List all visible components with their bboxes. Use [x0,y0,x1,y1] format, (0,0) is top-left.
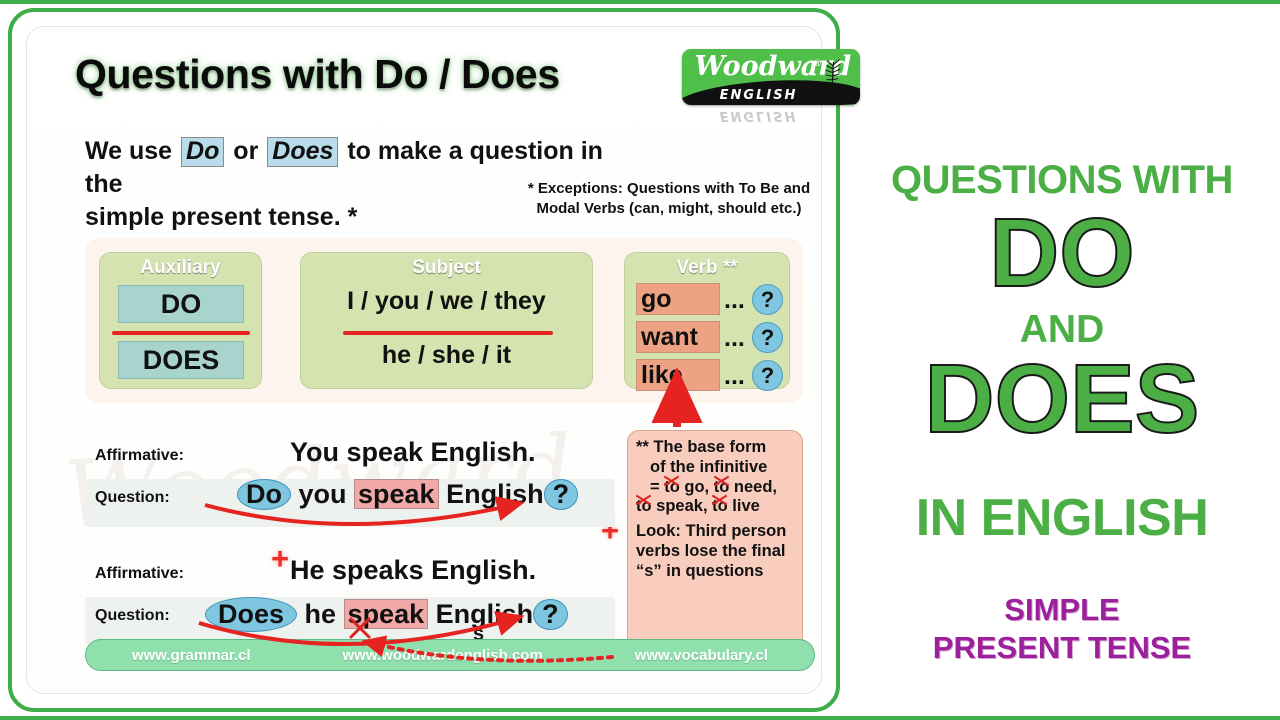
logo-reflection-text: ENGLISH [682,108,835,123]
verb-highlight: speak [354,479,439,509]
question-mark-badge: ? [752,284,783,315]
subject-header: Subject [301,257,592,279]
note-line-3: = to go, to need, [636,478,794,498]
note-line-1: ** The base form [636,438,794,458]
question-mark-badge: ? [752,360,783,391]
auxiliary-does-cell: DOES [118,341,244,379]
note-line-5: Look: Third person [636,522,794,542]
question-mark-chip: ? [533,599,568,630]
auxiliary-divider [112,331,250,335]
woodward-english-logo-small: Woodward ® ENGLISH [682,49,860,131]
affirmative-sentence: He speaks English. [290,555,536,586]
highlight-does: Does [267,137,338,167]
question-label: Question: [95,489,170,507]
top-green-rule [0,0,1280,4]
summary-line-questions-with: QUESTIONS WITH [848,158,1276,203]
summary-line-present-tense: PRESENT TENSE [848,630,1276,666]
auxiliary-box: Auxiliary DO DOES [99,252,262,389]
left-inner-frame: Woodward Woodward Questions with Do / Do… [26,26,822,694]
infographic-canvas: Woodward Woodward Questions with Do / Do… [0,0,1280,720]
auxiliary-do-cell: DO [118,285,244,323]
intro-part-2: or [226,137,265,165]
footer-link-grammar[interactable]: www.grammar.cl [132,647,251,664]
summary-line-in-english: IN ENGLISH [848,488,1276,548]
subject-box: Subject I / you / we / they he / she / i… [300,252,593,389]
summary-line-simple: SIMPLE [848,592,1276,628]
exceptions-line-2: Modal Verbs (can, might, should etc.) [495,199,843,219]
question-mark-chip: ? [544,479,579,510]
right-summary-panel: Woodward ® ENGLISH ENGLISH [848,8,1276,712]
summary-word-does: DOES [848,350,1276,447]
question-object: English [439,479,544,509]
footer-links-bar: www.grammar.cl www.woodwardenglish.com w… [85,639,815,671]
logo-badge: Woodward ® ENGLISH [682,49,860,105]
base-form-note-box: ** The base form of the infinitive = to … [627,430,803,657]
verb-word: like [636,359,720,391]
highlight-do: Do [181,137,224,167]
logo-reflection: ENGLISH [682,106,860,131]
question-label: Question: [95,607,170,625]
verb-highlight: speak [344,599,429,629]
note-speak: speak, [652,497,713,515]
question-subject: he [297,599,344,629]
verb-row: want ... ? [636,321,784,355]
verb-row: go ... ? [636,283,784,317]
question-subject: you [291,479,354,509]
note-equals: = [650,478,664,496]
bottom-green-rule [0,716,1280,720]
verb-ellipsis: ... [724,359,745,393]
verb-box: Verb ** go ... ? want ... ? like ... [624,252,790,389]
verb-row: like ... ? [636,359,784,393]
examples-section: Affirmative: You speak English. Question… [85,427,615,667]
affirmative-label: Affirmative: [95,565,184,583]
subject-line-1: I / you / we / they [301,287,592,316]
struck-to-1: to [664,478,680,498]
affirmative-label: Affirmative: [95,447,184,465]
note-go: go, [680,478,714,496]
left-lesson-panel: Woodward Woodward Questions with Do / Do… [8,8,840,712]
verb-header: Verb ** [625,257,789,279]
question-sentence: Do you speak English? [237,479,578,510]
affirmative-sentence: You speak English. [290,437,536,468]
note-line-7: “s” in questions [636,562,794,582]
page-title: Questions with Do / Does [75,51,560,98]
question-sentence: Does he speak English? [205,597,568,632]
struck-to-3: to [636,497,652,517]
note-line-6: verbs lose the final [636,542,794,562]
summary-word-do: DO [848,204,1276,301]
struck-to-4: to [712,497,728,517]
auxiliary-header: Auxiliary [100,257,261,279]
verb-word: want [636,321,720,353]
verb-word: go [636,283,720,315]
exceptions-note: * Exceptions: Questions with To Be and M… [495,179,843,218]
question-mark-badge: ? [752,322,783,353]
exceptions-line-1: * Exceptions: Questions with To Be and [495,179,843,199]
subject-divider [343,331,553,335]
footer-link-woodwardenglish[interactable]: www.woodwardenglish.com [342,647,542,664]
note-line-2: of the infinitive [636,458,794,478]
footer-link-vocabulary[interactable]: www.vocabulary.cl [635,647,768,664]
struck-to-2: to [714,478,730,498]
verb-ellipsis: ... [724,283,745,317]
note-live: live [728,497,760,515]
aux-chip-does: Does [205,597,297,632]
verb-ellipsis: ... [724,321,745,355]
note-line-4: to speak, to live [636,497,794,517]
aux-chip-do: Do [237,479,291,510]
formula-table: Auxiliary DO DOES + + Subject I / you / … [85,238,803,403]
subject-line-2: he / she / it [301,341,592,370]
intro-part-1: We use [85,137,179,165]
note-need: need, [729,478,777,496]
